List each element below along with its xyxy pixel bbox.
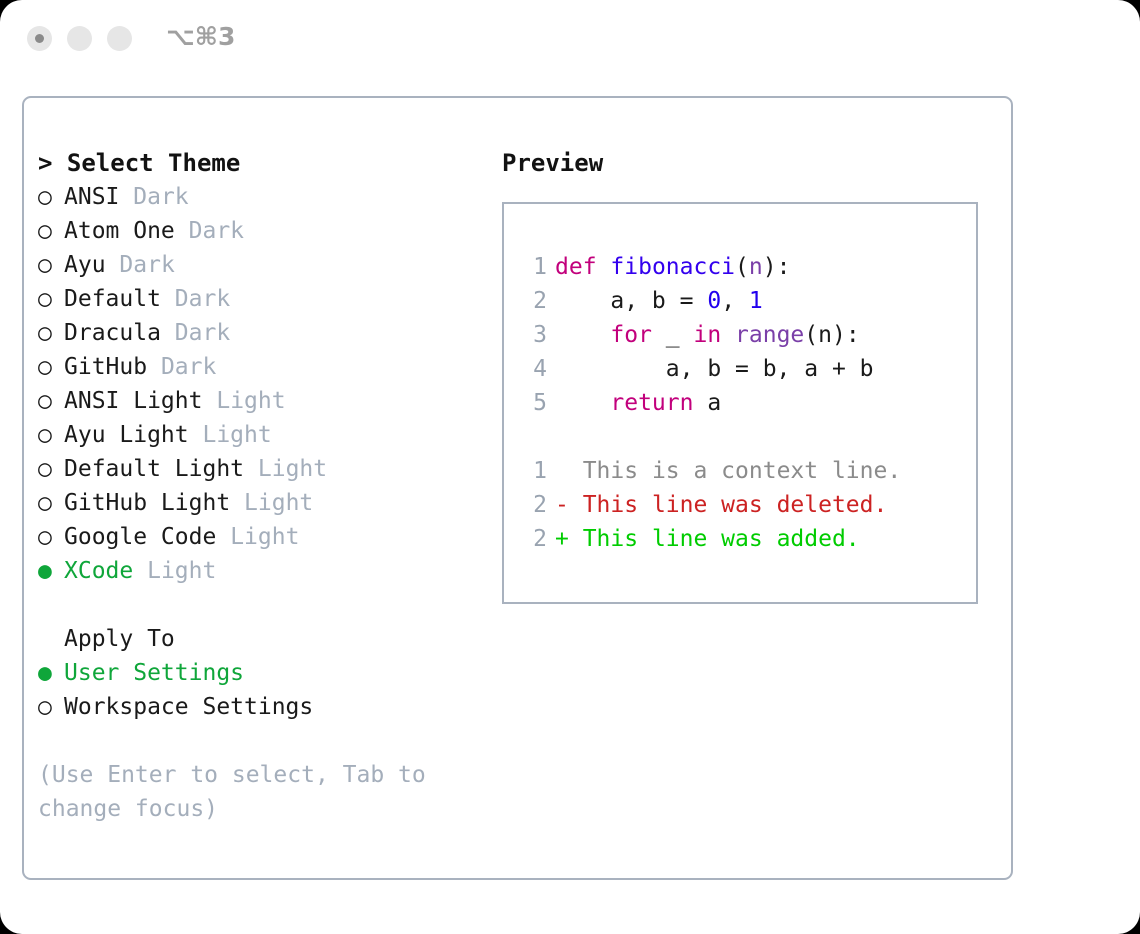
code-sample: 1def fibonacci(n):2 a, b = 0, 13 for _ i…: [521, 250, 970, 420]
line-number: 2: [521, 488, 547, 522]
code-preview-content: 1def fibonacci(n):2 a, b = 0, 13 for _ i…: [521, 250, 970, 556]
theme-name-label: Dracula: [64, 320, 161, 346]
line-number: 5: [521, 386, 547, 420]
radio-unselected-icon[interactable]: ○: [38, 520, 64, 554]
theme-variant-label: Dark: [175, 320, 230, 346]
theme-list-item[interactable]: ○Default Dark: [38, 282, 478, 316]
apply-to-item[interactable]: ○Workspace Settings: [38, 690, 478, 724]
diff-line: 2- This line was deleted.: [521, 488, 970, 522]
code-token: _: [652, 322, 694, 348]
theme-name-label: GitHub Light: [64, 490, 230, 516]
theme-list-item[interactable]: ○Default Light Light: [38, 452, 478, 486]
code-line: 3 for _ in range(n):: [521, 318, 970, 352]
theme-variant-label: Dark: [161, 354, 216, 380]
theme-variant-label: Light: [258, 456, 327, 482]
theme-list-item[interactable]: ○Ayu Dark: [38, 248, 478, 282]
theme-name-label: Default: [64, 286, 161, 312]
theme-name-label: GitHub: [64, 354, 147, 380]
radio-unselected-icon[interactable]: ○: [38, 248, 64, 282]
radio-unselected-icon[interactable]: ○: [38, 690, 64, 724]
diff-line: 2+ This line was added.: [521, 522, 970, 556]
theme-variant-label: Dark: [175, 286, 230, 312]
code-token: a, b = b, a + b: [555, 356, 874, 382]
section-spacer: [38, 588, 478, 622]
code-token: a, b =: [555, 288, 707, 314]
traffic-light-second-icon[interactable]: [67, 26, 92, 51]
radio-unselected-icon[interactable]: ○: [38, 180, 64, 214]
theme-variant-label: Light: [216, 388, 285, 414]
theme-variant-label: Light: [147, 558, 216, 584]
title-bar: ⌥⌘3: [0, 0, 1140, 78]
theme-variant-label: Dark: [119, 252, 174, 278]
preview-title: Preview: [502, 146, 1002, 180]
theme-name-label: ANSI: [64, 184, 119, 210]
line-number: 4: [521, 352, 547, 386]
code-line: 1def fibonacci(n):: [521, 250, 970, 284]
code-token: fibonacci: [610, 254, 735, 280]
select-theme-header: > Select Theme: [38, 146, 478, 180]
diff-line: 1 This is a context line.: [521, 454, 970, 488]
line-number: 1: [521, 250, 547, 284]
traffic-light-third-icon[interactable]: [107, 26, 132, 51]
code-token: [555, 390, 610, 416]
theme-name-label: Atom One: [64, 218, 175, 244]
code-token: ):: [763, 254, 791, 280]
diff-text: This is a context line.: [569, 458, 901, 484]
diff-marker: +: [555, 526, 569, 552]
code-token: range: [735, 322, 804, 348]
keyboard-shortcut-label: ⌥⌘3: [166, 22, 235, 51]
line-number: 1: [521, 454, 547, 488]
radio-unselected-icon[interactable]: ○: [38, 452, 64, 486]
radio-unselected-icon[interactable]: ○: [38, 282, 64, 316]
traffic-light-active-icon[interactable]: [27, 26, 52, 51]
theme-name-label: Google Code: [64, 524, 216, 550]
radio-selected-icon[interactable]: ●: [38, 656, 64, 690]
theme-variant-label: Light: [244, 490, 313, 516]
code-preview-box: 1def fibonacci(n):2 a, b = 0, 13 for _ i…: [502, 202, 978, 604]
code-blank-line: [521, 420, 970, 454]
theme-name-label: XCode: [64, 558, 133, 584]
line-number: 2: [521, 522, 547, 556]
theme-list-item[interactable]: ○GitHub Dark: [38, 350, 478, 384]
code-token: a: [693, 390, 721, 416]
radio-selected-icon[interactable]: ●: [38, 554, 64, 588]
code-token: n: [749, 254, 763, 280]
code-token: [555, 322, 610, 348]
keyboard-hint-text: (Use Enter to select, Tab to change focu…: [38, 758, 438, 826]
code-token: [597, 254, 611, 280]
code-token: (: [735, 254, 749, 280]
code-token: (n):: [804, 322, 859, 348]
code-token: def: [555, 254, 597, 280]
code-token: [721, 322, 735, 348]
radio-unselected-icon[interactable]: ○: [38, 384, 64, 418]
theme-list-item[interactable]: ●XCode Light: [38, 554, 478, 588]
diff-text: This line was deleted.: [569, 492, 888, 518]
theme-list-item[interactable]: ○GitHub Light Light: [38, 486, 478, 520]
code-token: 1: [749, 288, 763, 314]
code-token: return: [610, 390, 693, 416]
code-token: 0: [707, 288, 721, 314]
line-number: 3: [521, 318, 547, 352]
theme-list-item[interactable]: ○Dracula Dark: [38, 316, 478, 350]
theme-name-label: Default Light: [64, 456, 244, 482]
theme-list-item[interactable]: ○Atom One Dark: [38, 214, 478, 248]
theme-list[interactable]: ○ANSI Dark○Atom One Dark○Ayu Dark○Defaul…: [38, 180, 478, 588]
theme-name-label: Ayu: [64, 252, 106, 278]
diff-marker: -: [555, 492, 569, 518]
theme-selection-column: > Select Theme ○ANSI Dark○Atom One Dark○…: [38, 146, 478, 826]
radio-unselected-icon[interactable]: ○: [38, 418, 64, 452]
theme-list-item[interactable]: ○ANSI Dark: [38, 180, 478, 214]
theme-list-item[interactable]: ○ANSI Light Light: [38, 384, 478, 418]
preview-column: Preview 1def fibonacci(n):2 a, b = 0, 13…: [502, 146, 1002, 604]
apply-to-list[interactable]: ●User Settings○Workspace Settings: [38, 656, 478, 724]
theme-list-item[interactable]: ○Ayu Light Light: [38, 418, 478, 452]
code-line: 5 return a: [521, 386, 970, 420]
line-number: 2: [521, 284, 547, 318]
apply-to-header: Apply To: [38, 622, 478, 656]
theme-variant-label: Light: [202, 422, 271, 448]
code-line: 2 a, b = 0, 1: [521, 284, 970, 318]
code-token: in: [693, 322, 721, 348]
diff-marker: [555, 458, 569, 484]
theme-variant-label: Dark: [189, 218, 244, 244]
apply-to-label: Workspace Settings: [64, 694, 313, 720]
theme-picker-panel: > Select Theme ○ANSI Dark○Atom One Dark○…: [22, 96, 1013, 880]
apply-to-item[interactable]: ●User Settings: [38, 656, 478, 690]
theme-name-label: ANSI Light: [64, 388, 202, 414]
code-line: 4 a, b = b, a + b: [521, 352, 970, 386]
radio-unselected-icon[interactable]: ○: [38, 350, 64, 384]
theme-variant-label: Light: [230, 524, 299, 550]
theme-variant-label: Dark: [133, 184, 188, 210]
apply-to-label: User Settings: [64, 660, 244, 686]
radio-unselected-icon[interactable]: ○: [38, 316, 64, 350]
radio-unselected-icon[interactable]: ○: [38, 486, 64, 520]
code-token: ,: [721, 288, 749, 314]
diff-sample: 1 This is a context line.2- This line wa…: [521, 454, 970, 556]
theme-list-item[interactable]: ○Google Code Light: [38, 520, 478, 554]
diff-text: This line was added.: [569, 526, 860, 552]
radio-unselected-icon[interactable]: ○: [38, 214, 64, 248]
code-token: for: [610, 322, 652, 348]
theme-name-label: Ayu Light: [64, 422, 189, 448]
app-window: ⌥⌘3 > Select Theme ○ANSI Dark○Atom One D…: [0, 0, 1140, 934]
